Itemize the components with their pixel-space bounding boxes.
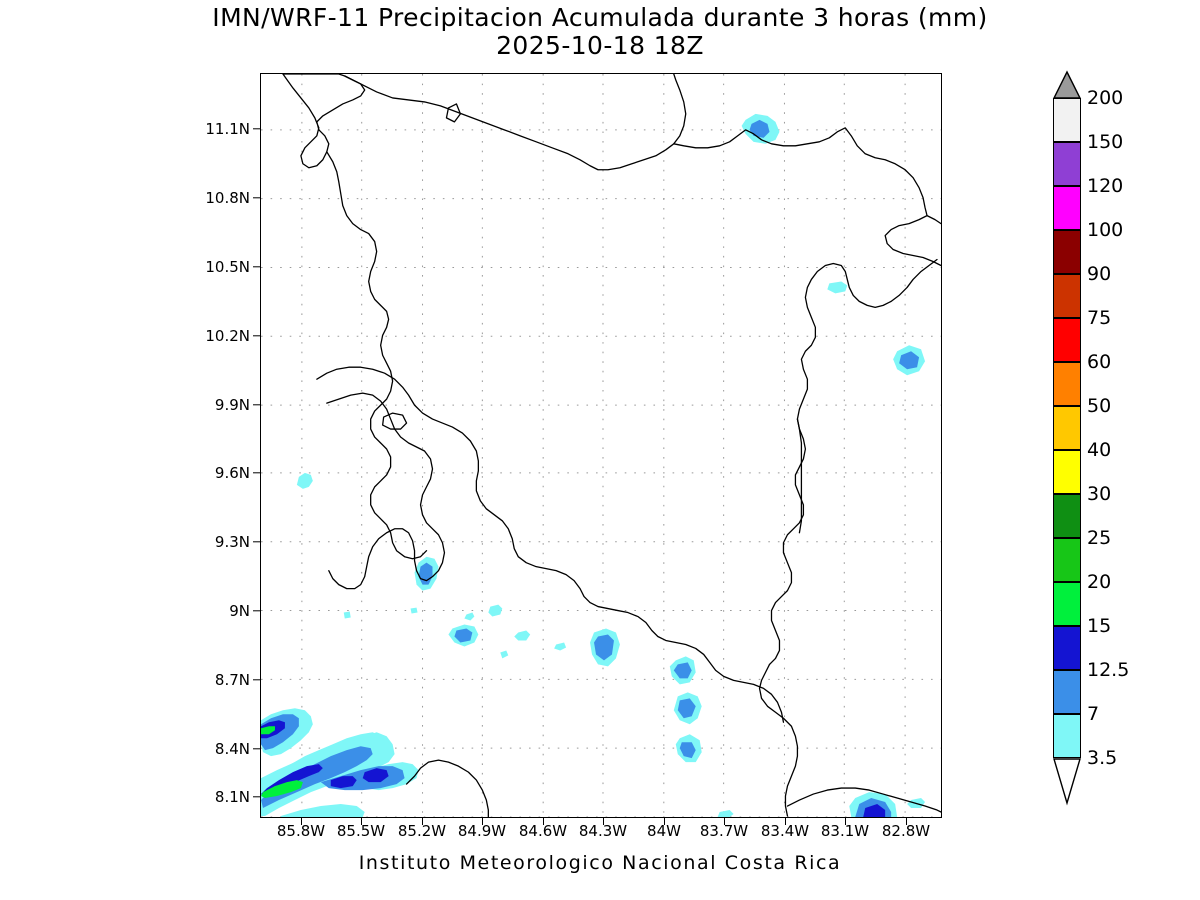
y-axis-label: 9.3N	[188, 533, 250, 551]
border-panama	[797, 419, 801, 533]
precip-cell-3_5-b	[488, 605, 502, 617]
colorbar-segment-50[interactable]	[1053, 406, 1081, 450]
y-tick	[253, 796, 260, 797]
y-axis-label: 8.1N	[188, 788, 250, 806]
precip-cell-3_5-small1	[411, 608, 418, 614]
colorbar-tick-25: 25	[1087, 527, 1111, 549]
colorbar-segment-150[interactable]	[1053, 142, 1081, 186]
island-gulf-nicoya	[383, 413, 407, 429]
colorbar-tick-200: 200	[1087, 87, 1123, 109]
precip-cell-3_5-g	[554, 642, 566, 650]
colorbar-segment-40[interactable]	[1053, 450, 1081, 494]
colorbar-segment-90[interactable]	[1053, 274, 1081, 318]
colorbar-tick-100: 100	[1087, 219, 1123, 241]
y-tick	[253, 128, 260, 129]
colorbar-tick-90: 90	[1087, 263, 1111, 285]
y-axis-label: 9.9N	[188, 396, 250, 414]
y-axis-label: 8.7N	[188, 671, 250, 689]
y-tick	[253, 472, 260, 473]
colorbar-segment-12_5[interactable]	[1053, 670, 1081, 714]
precip-cell-3_5-e	[514, 631, 530, 641]
precip-cell-3_5-small2	[344, 612, 351, 619]
colorbar-tick-12_5: 12.5	[1087, 659, 1129, 681]
colorbar-tick-40: 40	[1087, 439, 1111, 461]
colorbar-segment-20[interactable]	[1053, 582, 1081, 626]
precip-cell-3_5-panama-s	[718, 810, 734, 817]
y-tick	[253, 541, 260, 542]
colorbar-segment-25[interactable]	[1053, 538, 1081, 582]
x-axis-label: 83.1W	[810, 822, 880, 840]
y-tick	[253, 748, 260, 749]
figure-title: IMN/WRF-11 Precipitacion Acumulada duran…	[0, 4, 1200, 32]
coastline-caribbean-cont	[885, 216, 941, 266]
colorbar-segment-100[interactable]	[1053, 230, 1081, 274]
y-tick	[253, 679, 260, 680]
y-axis-label: 9.6N	[188, 464, 250, 482]
colorbar-tick-20: 20	[1087, 571, 1111, 593]
colorbar-tick-3_5: 3.5	[1087, 747, 1117, 769]
figure-footer: Instituto Meteorologico Nacional Costa R…	[0, 852, 1200, 874]
figure-subtitle: 2025-10-18 18Z	[0, 32, 1200, 60]
map-gridlines	[261, 74, 941, 817]
colorbar-tick-7: 7	[1087, 703, 1099, 725]
y-axis-label: 11.1N	[188, 120, 250, 138]
coastline-caribbean-se	[770, 260, 938, 665]
x-axis-label: 84.9W	[447, 822, 517, 840]
y-axis-label: 8.4N	[188, 740, 250, 758]
precip-cell-3_5-carib-mid	[827, 281, 847, 293]
precip-cell-3_5-c	[464, 613, 474, 621]
colorbar-tick-120: 120	[1087, 175, 1123, 197]
colorbar-segment-15[interactable]	[1053, 626, 1081, 670]
y-tick	[253, 335, 260, 336]
precip-cell-3_5-a	[297, 473, 313, 489]
x-axis-label: 84.3W	[568, 822, 638, 840]
map-canvas	[261, 74, 941, 817]
y-axis-label: 10.8N	[188, 189, 250, 207]
coastline-nw-pacific	[283, 74, 365, 168]
colorbar-tick-150: 150	[1087, 131, 1123, 153]
y-tick	[253, 197, 260, 198]
y-axis-label: 10.5N	[188, 258, 250, 276]
colorbar-tick-15: 15	[1087, 615, 1111, 637]
figure-title-block: IMN/WRF-11 Precipitacion Acumulada duran…	[0, 4, 1200, 60]
precipitation-map-figure: IMN/WRF-11 Precipitacion Acumulada duran…	[0, 0, 1200, 900]
colorbar-segment-7[interactable]	[1053, 714, 1081, 758]
colorbar-under-arrow	[1053, 758, 1081, 804]
coastline-north-border	[345, 74, 686, 170]
coastline-osa-peninsula	[407, 760, 489, 817]
colorbar-tick-50: 50	[1087, 395, 1111, 417]
colorbar-over-arrow	[1053, 71, 1081, 99]
precip-cell-3_5-f	[500, 650, 508, 658]
coastline-nicoya-peninsula	[327, 152, 427, 559]
colorbar-tick-75: 75	[1087, 307, 1111, 329]
colorbar-tick-30: 30	[1087, 483, 1111, 505]
y-tick	[253, 266, 260, 267]
colorbar-tick-60: 60	[1087, 351, 1111, 373]
y-tick	[253, 610, 260, 611]
coastline-south-caribbean	[760, 664, 798, 816]
x-axis-label: 82.8W	[871, 822, 941, 840]
colorbar-segment-75[interactable]	[1053, 318, 1081, 362]
coastline-nicoya-nw	[317, 367, 784, 722]
x-axis-label: 83.7W	[689, 822, 759, 840]
colorbar-segment-200[interactable]	[1053, 98, 1081, 142]
coastline-caribbean	[674, 128, 941, 224]
x-axis-label: 85.5W	[326, 822, 396, 840]
y-axis-label: 9N	[188, 602, 250, 620]
colorbar-segment-60[interactable]	[1053, 362, 1081, 406]
y-axis-label: 10.2N	[188, 327, 250, 345]
colorbar-segment-30[interactable]	[1053, 494, 1081, 538]
precip-band-3_5-sw-tail	[281, 804, 365, 817]
map-plot-area[interactable]	[260, 73, 942, 818]
colorbar-segment-120[interactable]	[1053, 186, 1081, 230]
colorbar[interactable]: 200 150 120 100 90 75 60 50 40 30 25 20 …	[1053, 98, 1081, 798]
precipitation-field	[261, 114, 925, 817]
y-tick	[253, 404, 260, 405]
coastline-layer	[283, 74, 941, 817]
